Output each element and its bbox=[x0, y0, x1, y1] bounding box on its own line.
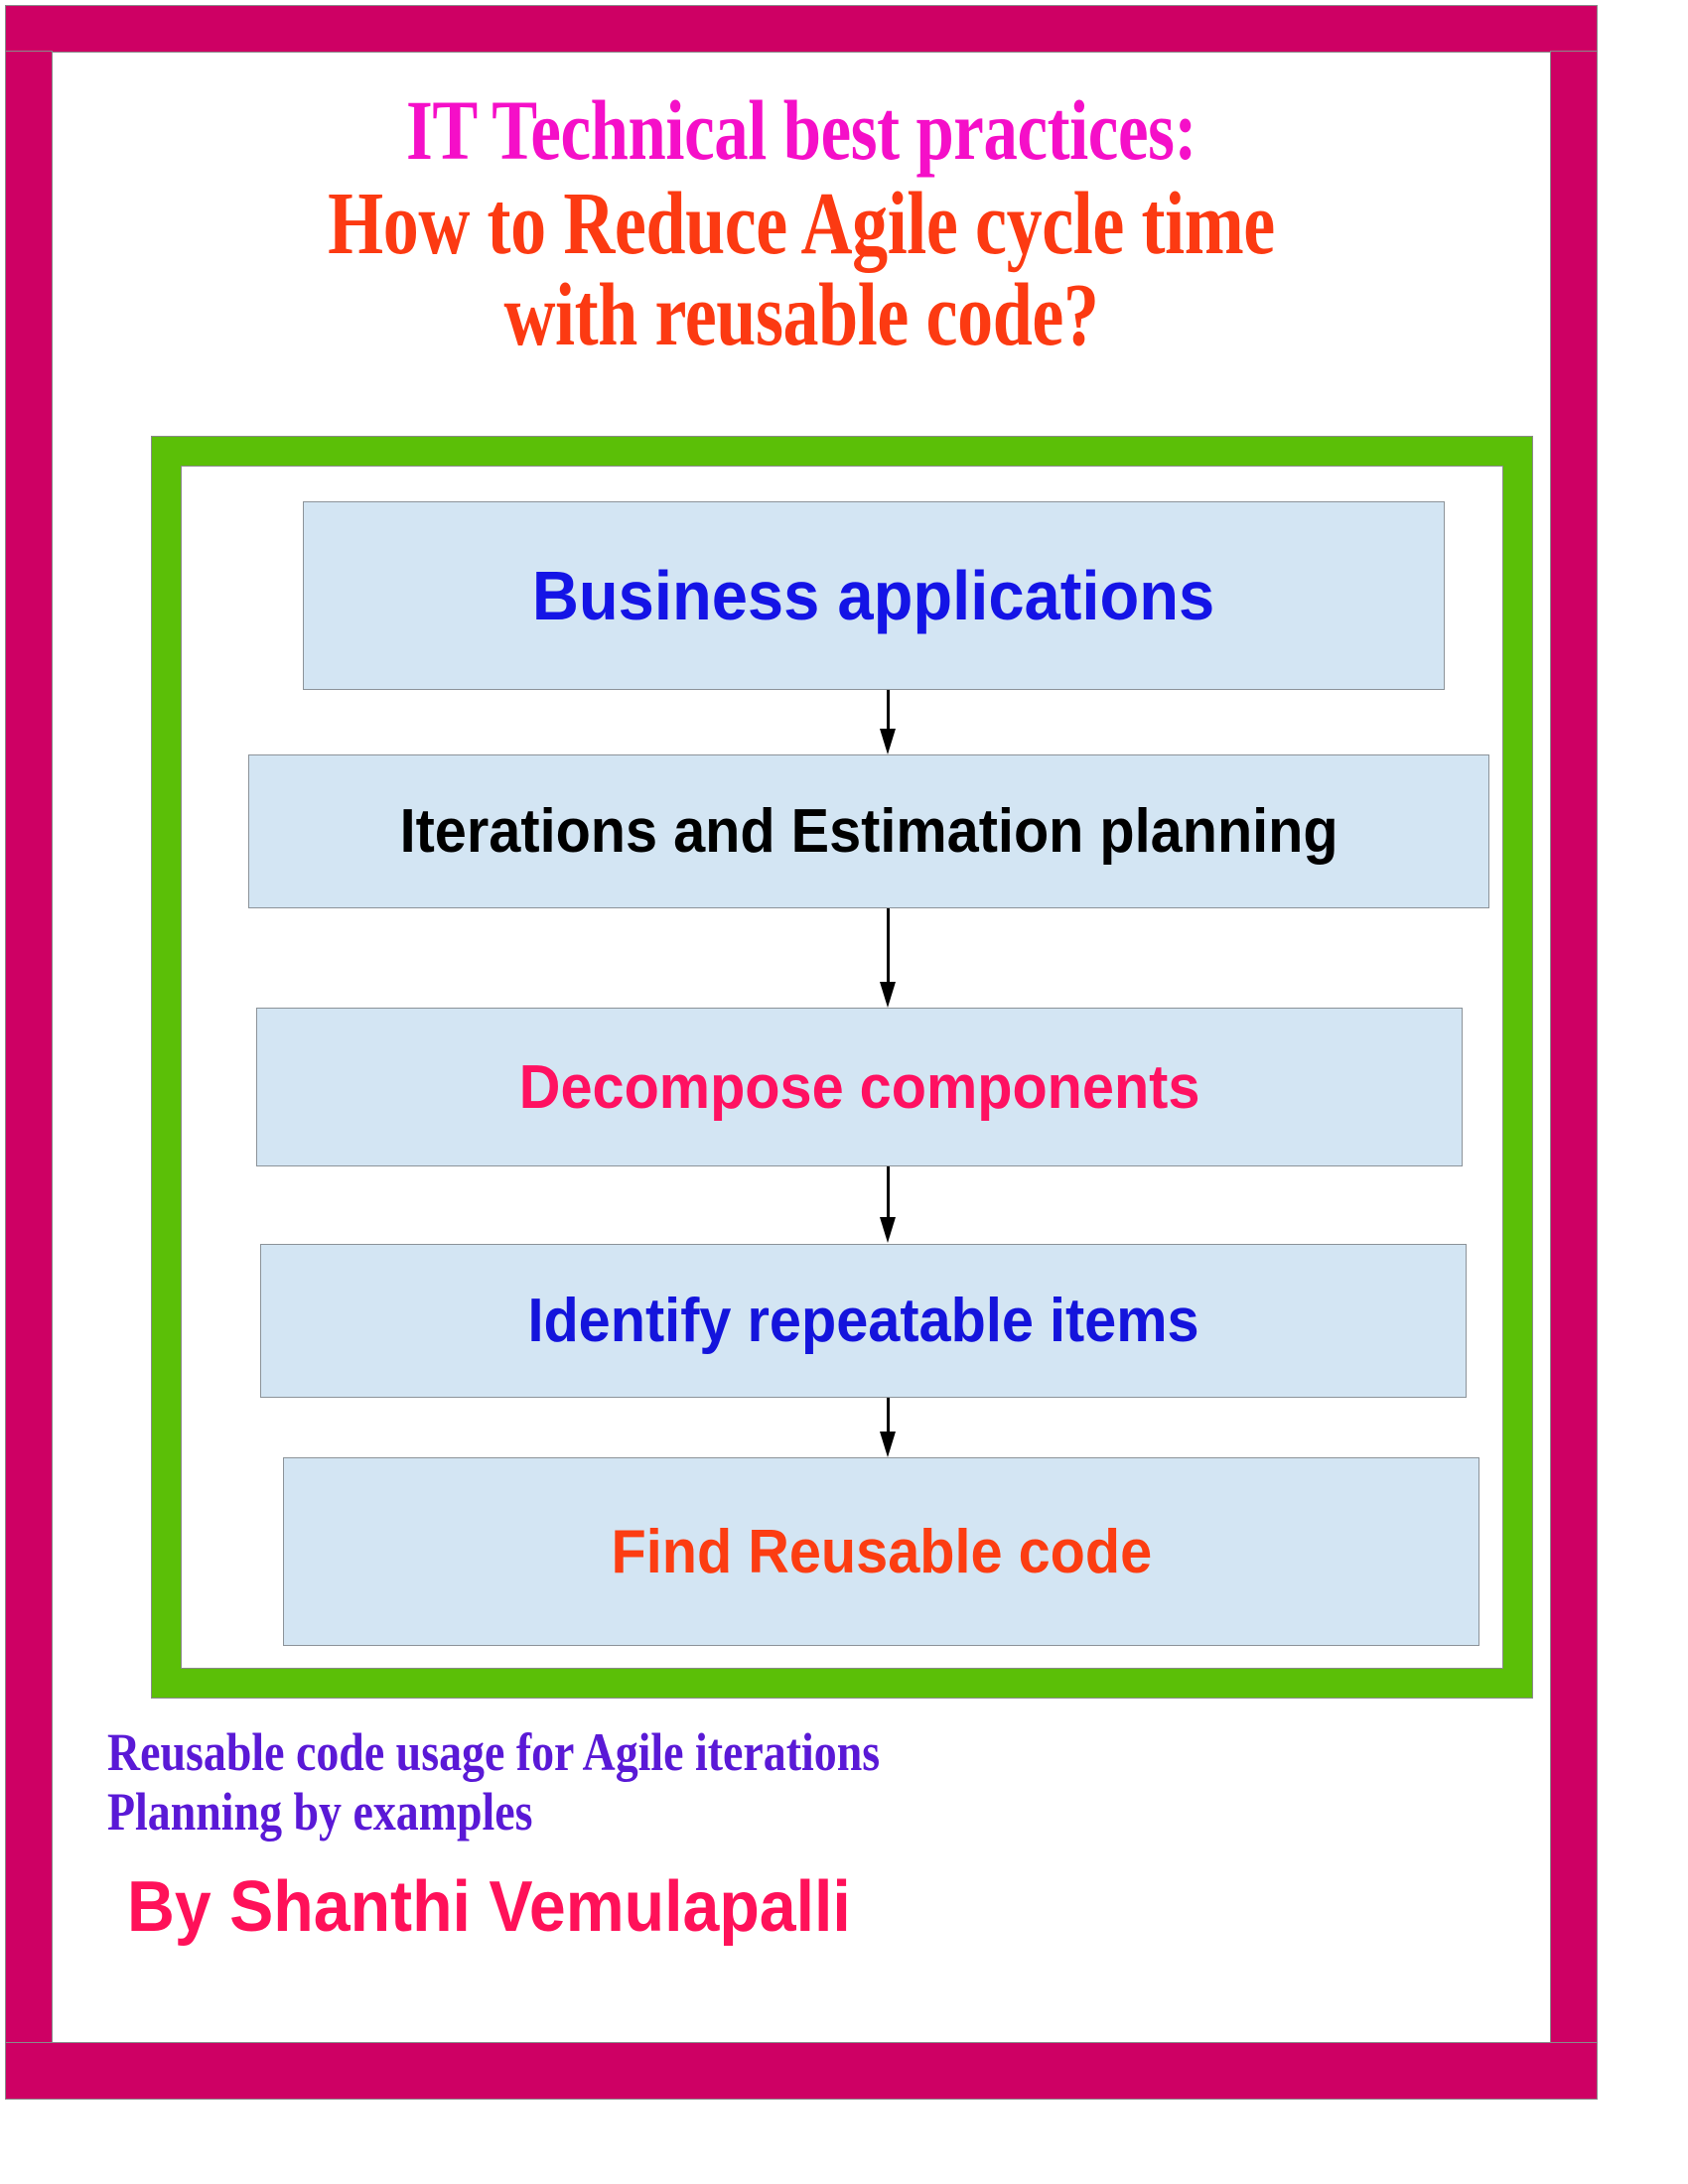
cover-frame-left bbox=[6, 52, 52, 2099]
flowchart-step-1[interactable]: Business applications bbox=[303, 501, 1445, 690]
cover-subtitle: Reusable code usage for Agile iterations… bbox=[107, 1722, 1448, 1843]
title-line-2: How to Reduce Agile cycle time bbox=[202, 179, 1401, 270]
arrow-down-icon bbox=[880, 1398, 896, 1457]
cover-frame-top bbox=[6, 6, 1597, 52]
arrow-down-icon bbox=[880, 690, 896, 754]
arrow-head bbox=[880, 729, 896, 754]
flowchart-step-2[interactable]: Iterations and Estimation planning bbox=[248, 754, 1489, 908]
title-line-1: IT Technical best practices: bbox=[202, 87, 1401, 175]
arrow-shaft bbox=[887, 1166, 890, 1218]
flowchart-step-4-label: Identify repeatable items bbox=[527, 1286, 1198, 1356]
page-title: IT Technical best practices: How to Redu… bbox=[52, 87, 1551, 360]
arrow-down-icon bbox=[880, 1166, 896, 1244]
arrow-head bbox=[880, 982, 896, 1008]
title-line-3: with reusable code? bbox=[202, 270, 1401, 361]
cover-frame-right bbox=[1551, 52, 1597, 2043]
arrow-shaft bbox=[887, 690, 890, 730]
arrow-head bbox=[880, 1432, 896, 1457]
flowchart-step-4[interactable]: Identify repeatable items bbox=[260, 1244, 1467, 1398]
flowchart-step-3[interactable]: Decompose components bbox=[256, 1008, 1463, 1166]
subtitle-line-2: Planning by examples bbox=[107, 1782, 1247, 1842]
flowchart-step-1-label: Business applications bbox=[532, 556, 1214, 635]
cover-frame-bottom bbox=[6, 2043, 1597, 2099]
arrow-down-icon bbox=[880, 908, 896, 1008]
author-byline: By Shanthi Vemulapalli bbox=[127, 1866, 851, 1948]
flowchart-step-3-label: Decompose components bbox=[519, 1052, 1200, 1123]
flowchart-step-5-label: Find Reusable code bbox=[611, 1517, 1152, 1587]
flowchart-step-2-label: Iterations and Estimation planning bbox=[399, 796, 1337, 867]
arrow-head bbox=[880, 1217, 896, 1243]
subtitle-line-1: Reusable code usage for Agile iterations bbox=[107, 1722, 1247, 1782]
flowchart-step-5[interactable]: Find Reusable code bbox=[283, 1457, 1479, 1646]
arrow-shaft bbox=[887, 908, 890, 983]
arrow-shaft bbox=[887, 1398, 890, 1433]
